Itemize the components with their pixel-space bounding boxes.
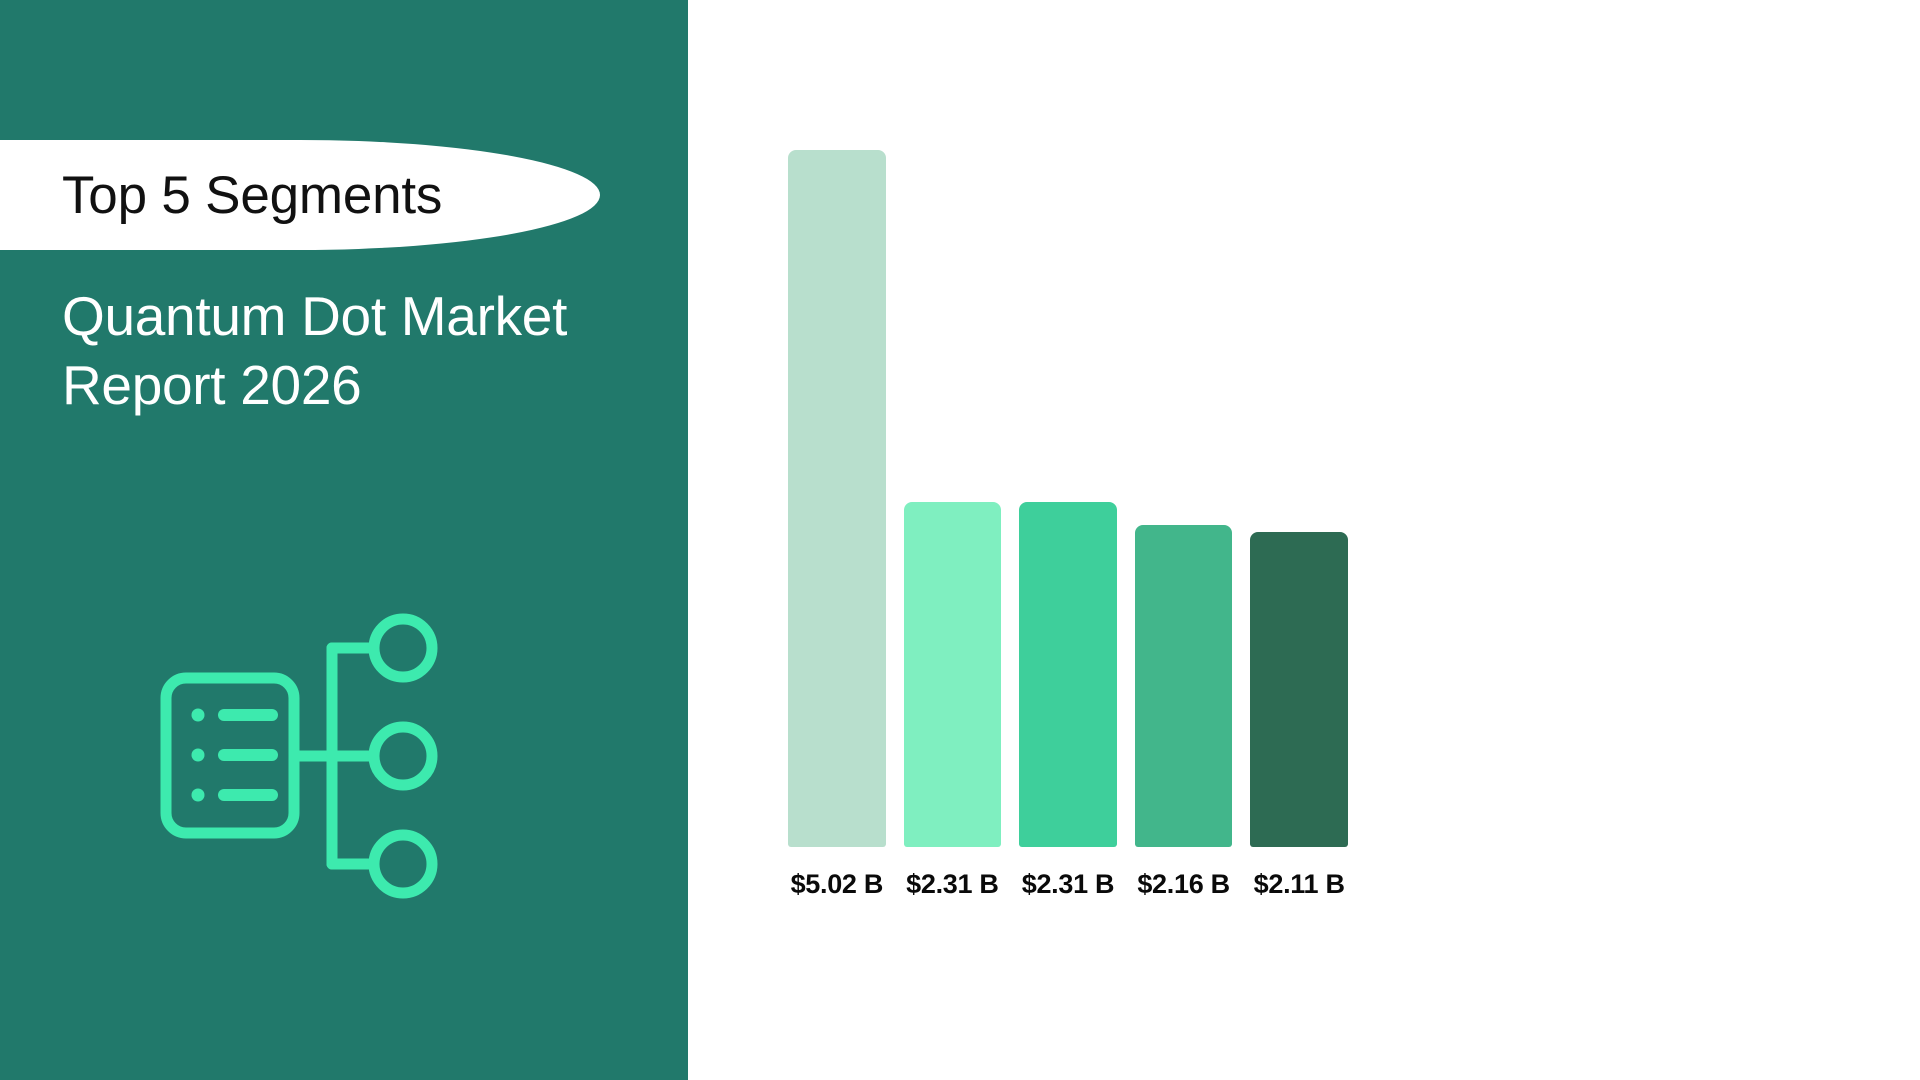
infographic-canvas: Top 5 Segments Quantum Dot Market Report…: [0, 0, 1920, 1080]
report-title-line-2: Report 2026: [62, 351, 662, 420]
bar-column: $2.31 B: [904, 150, 1002, 900]
chart-area: $5.02 B $2.31 B $2.31 B $2.16 B $2.11 B: [688, 0, 1920, 1080]
bar-chart: $5.02 B $2.31 B $2.31 B $2.16 B $2.11 B: [788, 150, 1348, 900]
report-title: Quantum Dot Market Report 2026: [62, 282, 662, 421]
bar-indium-arsenide: [904, 502, 1002, 847]
segments-badge: Top 5 Segments: [0, 140, 600, 250]
bar-column: $5.02 B: [788, 150, 886, 900]
bar-cadmium-sulfide: [1135, 525, 1233, 848]
bar-other-material: [1250, 532, 1348, 847]
left-panel: Top 5 Segments Quantum Dot Market Report…: [0, 0, 688, 1080]
bar-column: $2.31 B: [1019, 150, 1117, 900]
bar-cadmium-selenide: [788, 150, 886, 847]
bar-value-label: $5.02 B: [791, 869, 883, 900]
bar-value-label: $2.11 B: [1254, 869, 1345, 900]
bar-value-label: $2.31 B: [906, 869, 998, 900]
bar-column: $2.16 B: [1135, 150, 1233, 900]
segments-badge-label: Top 5 Segments: [62, 165, 442, 226]
document-flowchart-icon: [150, 600, 500, 900]
bar-value-label: $2.31 B: [1022, 869, 1114, 900]
bar-value-label: $2.16 B: [1137, 869, 1229, 900]
bar-column: $2.11 B: [1250, 150, 1348, 900]
bar-silicon: [1019, 502, 1117, 847]
report-title-line-1: Quantum Dot Market: [62, 282, 662, 351]
